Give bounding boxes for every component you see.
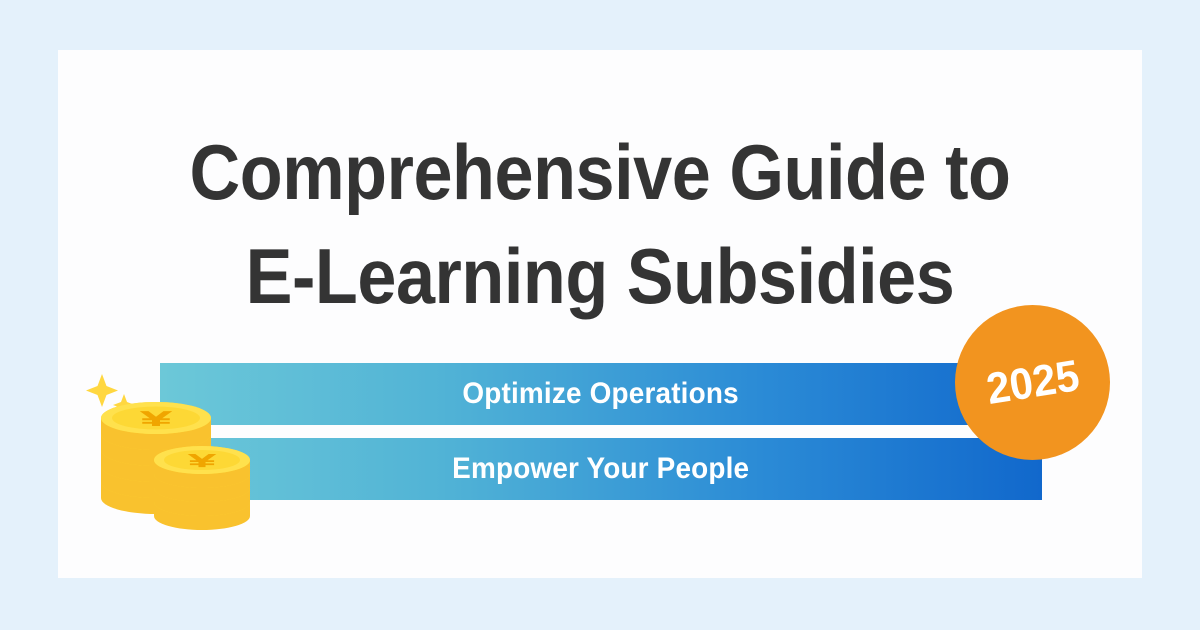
year-badge-label: 2025 — [983, 351, 1083, 415]
gold-coins-icon — [84, 364, 264, 540]
coin-stack-right — [154, 446, 250, 530]
sparkle-icon-large — [86, 374, 118, 407]
banner-bar-optimize-operations: Optimize Operations — [160, 363, 1042, 425]
banner-bar-empower-your-people: Empower Your People — [160, 438, 1042, 500]
year-badge: 2025 — [955, 305, 1110, 460]
page-title-line-1: Comprehensive Guide to — [112, 120, 1088, 224]
poster-canvas: Comprehensive Guide to E-Learning Subsid… — [0, 0, 1200, 630]
banner-label-optimize-operations: Optimize Operations — [463, 377, 739, 411]
page-title: Comprehensive Guide to E-Learning Subsid… — [112, 120, 1088, 328]
page-title-line-2: E-Learning Subsidies — [112, 224, 1088, 328]
banner-label-empower-your-people: Empower Your People — [452, 452, 749, 486]
gold-coins-illustration — [84, 364, 264, 540]
